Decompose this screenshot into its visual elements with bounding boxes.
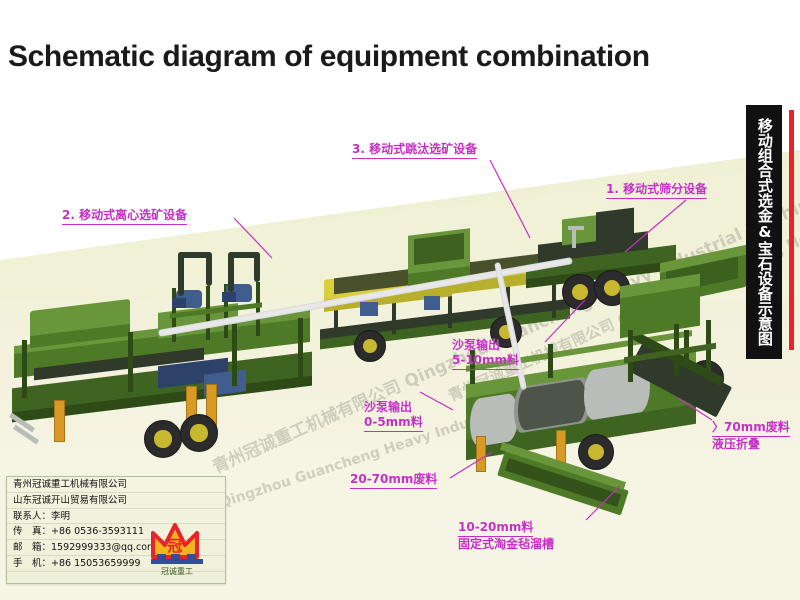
- screening-tower: [610, 278, 750, 398]
- callout-waste2070-text: 20-70mm废料: [350, 472, 437, 489]
- callout-pump510-line1: 沙泵输出: [452, 338, 500, 352]
- vertical-banner: 移动组合式选金&宝石设备示意图: [746, 105, 782, 359]
- callout-pump510-line2: 5-10mm料: [452, 353, 519, 370]
- callout-sand-pump-0-5mm: 沙泵输出 0-5mm料: [364, 400, 423, 432]
- callout-waste-20-70mm: 20-70mm废料: [350, 472, 437, 489]
- trailer-wheel: [180, 414, 218, 452]
- contact-company-2: 山东冠诚开山贸易有限公司: [7, 493, 225, 509]
- callout-sluice-line2: 固定式淘金毡溜槽: [458, 537, 554, 552]
- contact-card: 青州冠诚重工机械有限公司 山东冠诚开山贸易有限公司 联系人：李明 传 真：+86…: [6, 476, 226, 584]
- callout-fixed-sluice-10-20mm: 10-20mm料 固定式淘金毡溜槽: [458, 520, 554, 552]
- svg-text:冠诚重工: 冠诚重工: [161, 566, 193, 576]
- page-title: Schematic diagram of equipment combinati…: [8, 40, 650, 74]
- vertical-banner-text: 移动组合式选金&宝石设备示意图: [756, 118, 772, 346]
- callout-2-text: 2. 移动式离心选矿设备: [62, 208, 187, 225]
- trailer-wheel: [562, 274, 598, 310]
- callout-pump05-line2: 0-5mm料: [364, 415, 423, 432]
- schematic-diagram-canvas: 青州冠诚重工机械有限公司 Qingzhou Guancheng Heavy In…: [0, 0, 800, 600]
- callout-waste-over-70mm: 〉70mm废料 液压折叠: [712, 420, 790, 452]
- callout-1-mobile-screening: 1. 移动式筛分设备: [606, 182, 707, 199]
- callout-pump05-line1: 沙泵输出: [364, 400, 412, 414]
- callout-waste70-line2: 液压折叠: [712, 437, 790, 452]
- callout-3-mobile-jig: 3. 移动式跳汰选矿设备: [352, 142, 477, 159]
- callout-2-mobile-centrifugal: 2. 移动式离心选矿设备: [62, 208, 187, 225]
- callout-3-text: 3. 移动式跳汰选矿设备: [352, 142, 477, 159]
- contact-company-1: 青州冠诚重工机械有限公司: [7, 477, 225, 493]
- company-logo-icon: 冠 冠诚重工: [149, 517, 221, 579]
- callout-1-text: 1. 移动式筛分设备: [606, 182, 707, 199]
- callout-sand-pump-5-10mm: 沙泵输出 5-10mm料: [452, 338, 519, 370]
- sky-background: [0, 0, 800, 150]
- hydraulic-leg: [54, 400, 65, 442]
- hydraulic-leg: [476, 436, 486, 472]
- svg-text:冠: 冠: [167, 537, 182, 555]
- callout-sluice-line1: 10-20mm料: [458, 520, 533, 537]
- vertical-red-bar: [789, 110, 794, 350]
- trailer-wheel: [144, 420, 182, 458]
- callout-waste70-line1: 〉70mm废料: [712, 420, 790, 437]
- trailer-wheel: [354, 330, 386, 362]
